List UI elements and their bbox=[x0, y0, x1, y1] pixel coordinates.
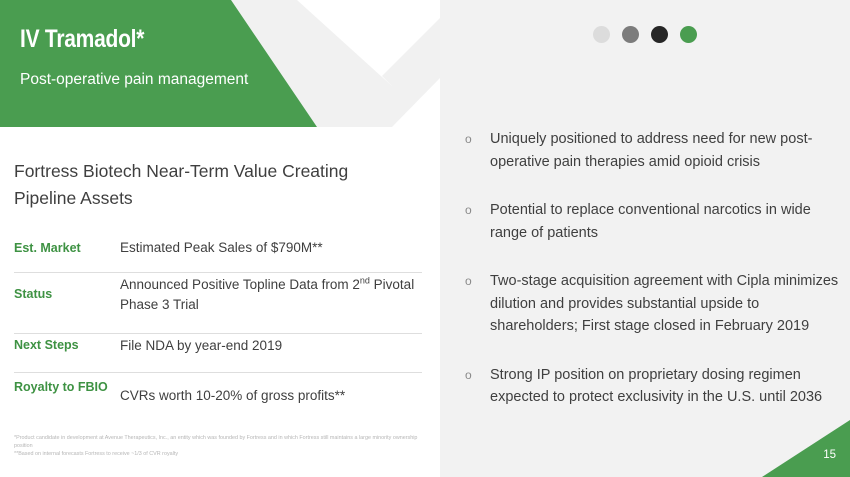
table-row-value-pre: Announced Positive Topline Data from 2 bbox=[120, 277, 360, 292]
list-item-text: Strong IP position on proprietary dosing… bbox=[490, 364, 846, 409]
page-subtitle: Post-operative pain management bbox=[20, 71, 248, 89]
table-row-label: Est. Market bbox=[14, 236, 120, 257]
page-title: IV Tramadol* bbox=[20, 25, 144, 54]
footnotes: *Product candidate in development at Ave… bbox=[14, 434, 434, 459]
circle-bullet-icon: o bbox=[454, 364, 490, 386]
progress-dot-icon-2[interactable] bbox=[622, 26, 639, 43]
table-row: Royalty to FBIO CVRs worth 10-20% of gro… bbox=[14, 373, 422, 423]
table-row-value-superscript: nd bbox=[360, 276, 370, 286]
section-heading: Fortress Biotech Near-Term Value Creatin… bbox=[14, 158, 404, 212]
list-item: o Potential to replace conventional narc… bbox=[454, 199, 846, 244]
circle-bullet-icon: o bbox=[454, 128, 490, 150]
list-item-text: Potential to replace conventional narcot… bbox=[490, 199, 846, 244]
page-number: 15 bbox=[823, 449, 836, 461]
progress-dots bbox=[440, 26, 850, 43]
table-row: Est. Market Estimated Peak Sales of $790… bbox=[14, 236, 422, 273]
footnote-1: *Product candidate in development at Ave… bbox=[14, 434, 434, 450]
left-panel: IV Tramadol* Post-operative pain managem… bbox=[0, 0, 440, 477]
table-row-label: Royalty to FBIO bbox=[14, 373, 120, 396]
table-row-label: Next Steps bbox=[14, 334, 120, 354]
list-item: o Two-stage acquisition agreement with C… bbox=[454, 270, 846, 338]
table-row-label: Status bbox=[14, 273, 120, 303]
pipeline-table: Est. Market Estimated Peak Sales of $790… bbox=[14, 236, 422, 423]
progress-dot-icon-3[interactable] bbox=[651, 26, 668, 43]
table-row: Status Announced Positive Topline Data f… bbox=[14, 273, 422, 334]
slide: IV Tramadol* Post-operative pain managem… bbox=[0, 0, 850, 477]
header-band: IV Tramadol* Post-operative pain managem… bbox=[0, 0, 440, 127]
list-item-text: Two-stage acquisition agreement with Cip… bbox=[490, 270, 846, 338]
progress-dot-icon-1[interactable] bbox=[593, 26, 610, 43]
list-item: o Strong IP position on proprietary dosi… bbox=[454, 364, 846, 409]
table-row-value: File NDA by year-end 2019 bbox=[120, 334, 422, 362]
list-item: o Uniquely positioned to address need fo… bbox=[454, 128, 846, 173]
circle-bullet-icon: o bbox=[454, 270, 490, 292]
progress-dot-icon-4[interactable] bbox=[680, 26, 697, 43]
list-item-text: Uniquely positioned to address need for … bbox=[490, 128, 846, 173]
table-row-value: CVRs worth 10-20% of gross profits** bbox=[120, 373, 422, 412]
table-row-value: Announced Positive Topline Data from 2nd… bbox=[120, 273, 422, 321]
table-row-value: Estimated Peak Sales of $790M** bbox=[120, 236, 422, 264]
table-row: Next Steps File NDA by year-end 2019 bbox=[14, 334, 422, 373]
right-panel: o Uniquely positioned to address need fo… bbox=[440, 0, 850, 477]
bullet-list: o Uniquely positioned to address need fo… bbox=[454, 128, 846, 435]
footnote-2: **Based on internal forecasts Fortress t… bbox=[14, 450, 434, 458]
circle-bullet-icon: o bbox=[454, 199, 490, 221]
